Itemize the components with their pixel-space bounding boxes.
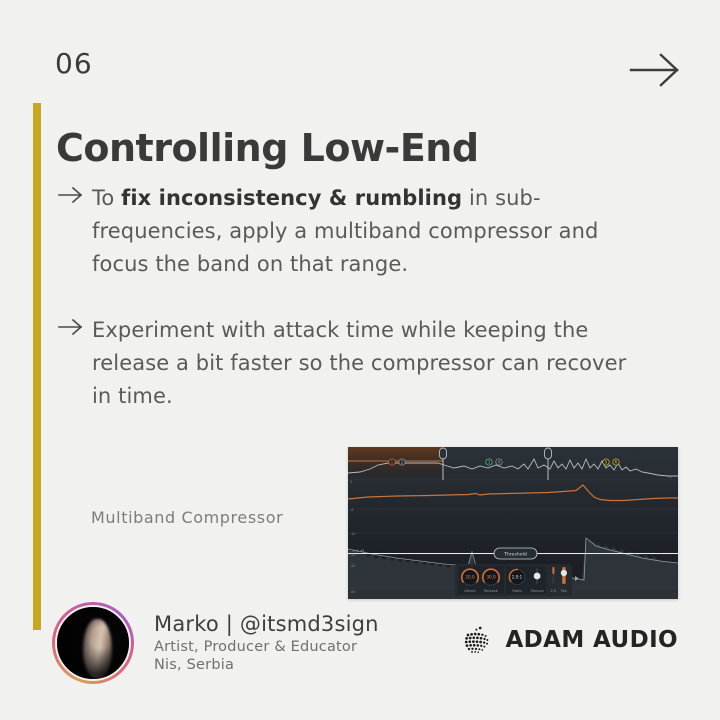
plugin-control-panel: 20.0 Attack 30.0 Release 2.0:1 Ratio Man… xyxy=(455,564,579,596)
svg-text:dB: dB xyxy=(668,475,672,479)
bullet-emphasis: fix inconsistency & rumbling xyxy=(121,186,462,210)
multiband-compressor-plugin: 1 2 3 4 5 6 Threshold xyxy=(348,447,678,599)
svg-text:3: 3 xyxy=(488,460,491,465)
svg-text:Manual: Manual xyxy=(531,589,544,593)
svg-text:1: 1 xyxy=(391,460,394,465)
accent-bar xyxy=(33,103,41,630)
list-item: Experiment with attack time while keepin… xyxy=(58,314,638,414)
svg-text:20.0: 20.0 xyxy=(465,575,475,580)
svg-text:Ratio: Ratio xyxy=(512,589,521,593)
svg-text:Threshold: Threshold xyxy=(503,552,527,558)
svg-text:-12: -12 xyxy=(350,532,356,536)
list-item-text: To fix inconsistency & rumbling in sub-f… xyxy=(92,182,638,282)
svg-text:2: 2 xyxy=(401,460,404,465)
svg-text:30.0: 30.0 xyxy=(486,575,496,580)
svg-text:-31.5 dB: -31.5 dB xyxy=(350,549,365,553)
arrow-right-icon xyxy=(628,48,682,92)
svg-text:Release: Release xyxy=(484,589,499,593)
bullet-list: To fix inconsistency & rumbling in sub-f… xyxy=(58,182,638,445)
avatar-image xyxy=(55,605,131,681)
svg-text:-42: -42 xyxy=(350,564,356,568)
brand-name: ADAM AUDIO xyxy=(505,627,678,653)
profile-block: Marko | @itsmd3sign Artist, Producer & E… xyxy=(52,602,379,684)
svg-text:2.0:1: 2.0:1 xyxy=(512,574,523,579)
list-item-text: Experiment with attack time while keepin… xyxy=(92,314,638,414)
svg-text:Mix: Mix xyxy=(561,589,568,593)
slide-root: 06 Controlling Low-End To fix inconsiste… xyxy=(0,0,720,720)
profile-location: Nis, Serbia xyxy=(154,656,379,675)
plugin-canvas: 1 2 3 4 5 6 Threshold xyxy=(348,447,678,599)
profile-role: Artist, Producer & Educator xyxy=(154,638,379,657)
threshold-handle: Threshold xyxy=(494,548,537,559)
bullet-lead: To xyxy=(92,186,121,210)
profile-text: Marko | @itsmd3sign Artist, Producer & E… xyxy=(154,611,379,675)
svg-text:-60: -60 xyxy=(350,590,356,594)
arrow-right-icon xyxy=(58,314,92,337)
slide-number: 06 xyxy=(55,50,93,78)
svg-text:-6: -6 xyxy=(350,508,353,512)
avatar xyxy=(52,602,134,684)
brand-block: ADAM AUDIO xyxy=(463,625,678,655)
avatar-vignette xyxy=(57,607,129,679)
page-title: Controlling Low-End xyxy=(56,126,479,172)
bullet-rest: Experiment with attack time while keepin… xyxy=(92,318,626,408)
adam-audio-logo-icon xyxy=(463,625,493,655)
svg-text:2.5: 2.5 xyxy=(551,589,557,593)
list-item: To fix inconsistency & rumbling in sub-f… xyxy=(58,182,638,282)
svg-text:5: 5 xyxy=(605,460,608,465)
svg-text:-24: -24 xyxy=(350,553,356,557)
image-caption: Multiband Compressor xyxy=(91,508,283,527)
svg-text:4: 4 xyxy=(498,460,501,465)
next-slide-button[interactable] xyxy=(628,48,682,92)
svg-text:6: 6 xyxy=(615,460,618,465)
profile-name: Marko | @itsmd3sign xyxy=(154,611,379,638)
svg-text:0: 0 xyxy=(350,480,352,484)
arrow-right-icon xyxy=(58,182,92,205)
svg-text:Attack: Attack xyxy=(464,589,476,593)
